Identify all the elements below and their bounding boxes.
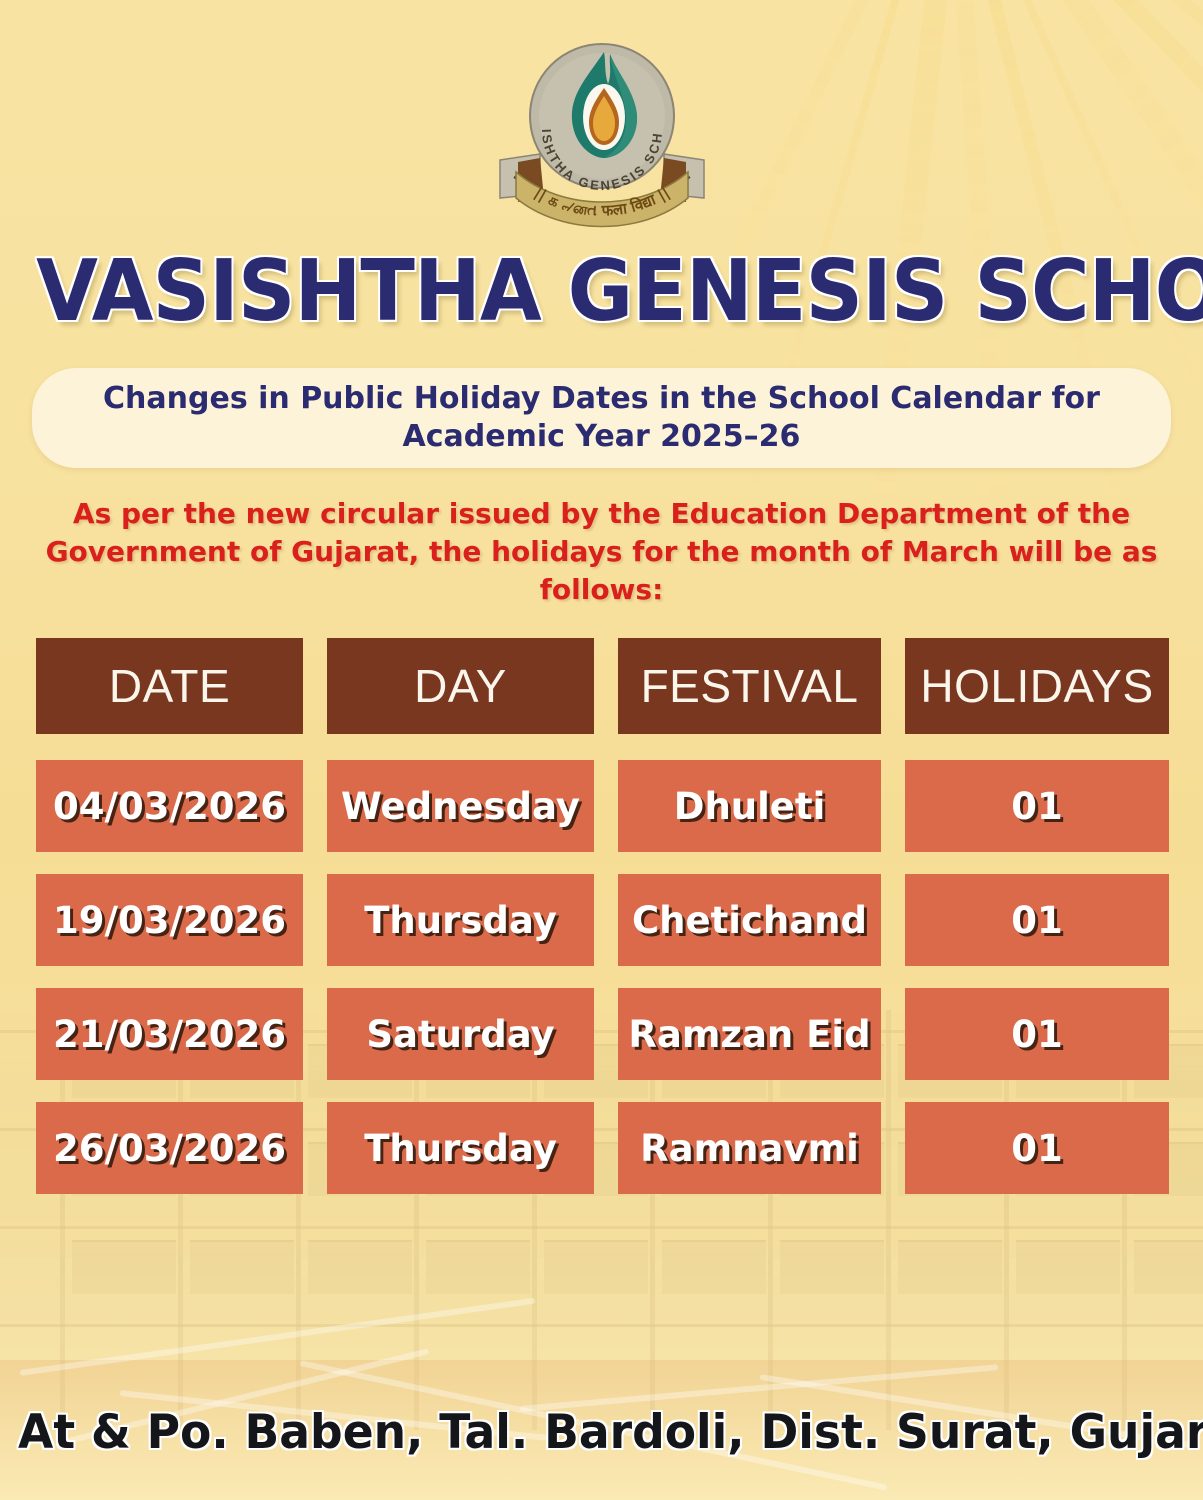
cell-festival: Dhuleti [618, 760, 881, 852]
cell-date: 21/03/2026 [36, 988, 303, 1080]
cell-festival: Ramzan Eid [618, 988, 881, 1080]
cell-festival: Ramnavmi [618, 1102, 881, 1194]
building-window [544, 1240, 648, 1294]
ray-line [945, 0, 1203, 256]
subtitle-banner: Changes in Public Holiday Dates in the S… [32, 368, 1171, 468]
building-window [898, 1240, 1002, 1294]
crest-icon: VASISHTHA GENESIS SCHOOL ❖ ❖ || ୸୼க ୷னત … [492, 12, 712, 238]
column-header-day: DAY [327, 638, 594, 734]
table-body: 04/03/2026 Wednesday Dhuleti 01 19/03/20… [36, 760, 1169, 1194]
light-streak [20, 1298, 536, 1376]
building-window [1134, 1240, 1203, 1294]
cell-holidays: 01 [905, 988, 1169, 1080]
building-window [72, 1240, 176, 1294]
building-window [1016, 1240, 1120, 1294]
column-header-festival-label: FESTIVAL [641, 659, 859, 713]
building-floor-line [0, 1226, 1203, 1229]
column-header-date-label: DATE [109, 659, 230, 713]
cell-day: Wednesday [327, 760, 594, 852]
holidays-table: DATE DAY FESTIVAL HOLIDAYS 04/03/2026 We… [36, 638, 1169, 1216]
cell-holidays: 01 [905, 1102, 1169, 1194]
column-header-date: DATE [36, 638, 303, 734]
cell-day: Thursday [327, 1102, 594, 1194]
column-header-holidays: HOLIDAYS [905, 638, 1169, 734]
building-window [662, 1240, 766, 1294]
cell-holidays: 01 [905, 760, 1169, 852]
column-header-day-label: DAY [414, 659, 507, 713]
ray-line [945, 0, 1203, 152]
table-row: 21/03/2026 Saturday Ramzan Eid 01 [36, 988, 1169, 1080]
table-header-row: DATE DAY FESTIVAL HOLIDAYS [36, 638, 1169, 734]
subtitle-text: Changes in Public Holiday Dates in the S… [32, 380, 1171, 456]
cell-day: Thursday [327, 874, 594, 966]
building-window [190, 1240, 294, 1294]
building-window [308, 1240, 412, 1294]
notice-text: As per the new circular issued by the Ed… [24, 495, 1179, 609]
cell-festival: Chetichand [618, 874, 881, 966]
school-crest-logo: VASISHTHA GENESIS SCHOOL ❖ ❖ || ୸୼க ୷னત … [492, 12, 712, 238]
column-header-holidays-label: HOLIDAYS [920, 659, 1153, 713]
cell-holidays: 01 [905, 874, 1169, 966]
footer-address: At & Po. Baben, Tal. Bardoli, Dist. Sura… [18, 1404, 1185, 1462]
ray-line [945, 0, 1203, 407]
page-title: VASISHTHA GENESIS SCHOOL [36, 247, 1167, 337]
building-window [426, 1240, 530, 1294]
building-floor-line [0, 1324, 1203, 1327]
table-row: 26/03/2026 Thursday Ramnavmi 01 [36, 1102, 1169, 1194]
table-row: 04/03/2026 Wednesday Dhuleti 01 [36, 760, 1169, 852]
cell-date: 26/03/2026 [36, 1102, 303, 1194]
table-row: 19/03/2026 Thursday Chetichand 01 [36, 874, 1169, 966]
column-header-festival: FESTIVAL [618, 638, 881, 734]
cell-date: 04/03/2026 [36, 760, 303, 852]
poster-canvas: VASISHTHA GENESIS SCHOOL ❖ ❖ || ୸୼க ୷னત … [0, 0, 1203, 1500]
cell-date: 19/03/2026 [36, 874, 303, 966]
cell-day: Saturday [327, 988, 594, 1080]
building-window [780, 1240, 884, 1294]
